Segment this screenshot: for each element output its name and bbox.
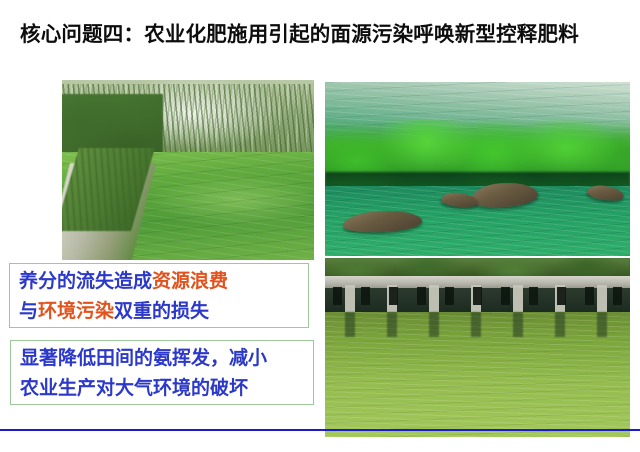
callout-nutrient-loss-line-1: 养分的流失造成资源浪费 [19, 267, 302, 297]
photo-algae-covered-canal [62, 80, 314, 260]
bottom-rule-divider [0, 429, 640, 431]
callout-ammonia-volatilization: 显著降低田间的氨挥发，减小 农业生产对大气环境的破坏 [10, 340, 314, 405]
photo-algae-bloom-with-rocks [325, 82, 630, 256]
pier-reflection-layer [325, 312, 630, 337]
callout-nutrient-loss-line-1-plain: 养分的流失造成 [19, 271, 152, 292]
callout-ammonia-line-1: 显著降低田间的氨挥发，减小 [20, 344, 307, 374]
callout-nutrient-loss-line-2: 与环境污染双重的损失 [19, 297, 302, 327]
photo-pier-over-green-water [325, 258, 630, 437]
callout-ammonia-line-2: 农业生产对大气环境的破坏 [20, 374, 307, 404]
callout-nutrient-loss-line-2-plain-end: 双重的损失 [114, 301, 209, 322]
callout-nutrient-loss-line-1-highlight: 资源浪费 [152, 271, 228, 292]
callout-nutrient-loss: 养分的流失造成资源浪费 与环境污染双重的损失 [9, 263, 309, 328]
callout-nutrient-loss-line-2-plain-start: 与 [19, 301, 38, 322]
pier-treeline-layer [325, 258, 630, 278]
pier-openings-layer [325, 287, 630, 305]
callout-nutrient-loss-line-2-highlight: 环境污染 [38, 301, 114, 322]
page-title: 核心问题四：农业化肥施用引起的面源污染呼唤新型控释肥料 [20, 22, 624, 48]
